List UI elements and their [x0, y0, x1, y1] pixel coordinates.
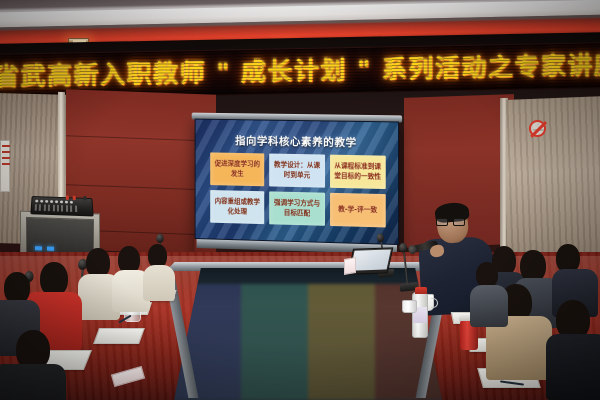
notebook: [93, 328, 145, 344]
slide-box: 强调学习方式与目标匹配: [269, 191, 324, 225]
slide-box: 从课程标准到课堂目标的一致性: [330, 155, 386, 189]
wall-notice: [0, 140, 10, 192]
slide-box: 内容重组或教学化处理: [210, 190, 264, 224]
slide-box: 教-学-评一致: [330, 193, 386, 228]
slide-surface: 指向学科核心素养的教学 促进深度学习的发生 教学设计：从课时到单元 从课程标准到…: [195, 119, 399, 246]
projection-screen: 指向学科核心素养的教学 促进深度学习的发生 教学设计：从课时到单元 从课程标准到…: [195, 119, 399, 259]
no-smoking-icon: [529, 120, 546, 137]
conference-room-photo: 省武高新入职教师 " 成长计划 " 系列活动之专家讲座 指向学科核心素养的教学 …: [0, 0, 600, 400]
paper-card: [344, 257, 356, 275]
slide-box: 教学设计：从课时到单元: [269, 154, 324, 188]
glasses-icon: [436, 218, 468, 226]
slide-box: 促进深度学习的发生: [210, 152, 264, 186]
slide-title: 指向学科核心素养的教学: [196, 132, 398, 150]
water-bottle: [412, 292, 428, 338]
right-wood-panel: [506, 96, 600, 265]
paper-cup: [402, 300, 417, 313]
audio-mixer-console: [30, 196, 93, 216]
led-banner-text: 省武高新入职教师 " 成长计划 " 系列活动之专家讲座: [0, 53, 600, 90]
slide-box-grid: 促进深度学习的发生 教学设计：从课时到单元 从课程标准到课堂目标的一致性 内容重…: [210, 152, 386, 227]
